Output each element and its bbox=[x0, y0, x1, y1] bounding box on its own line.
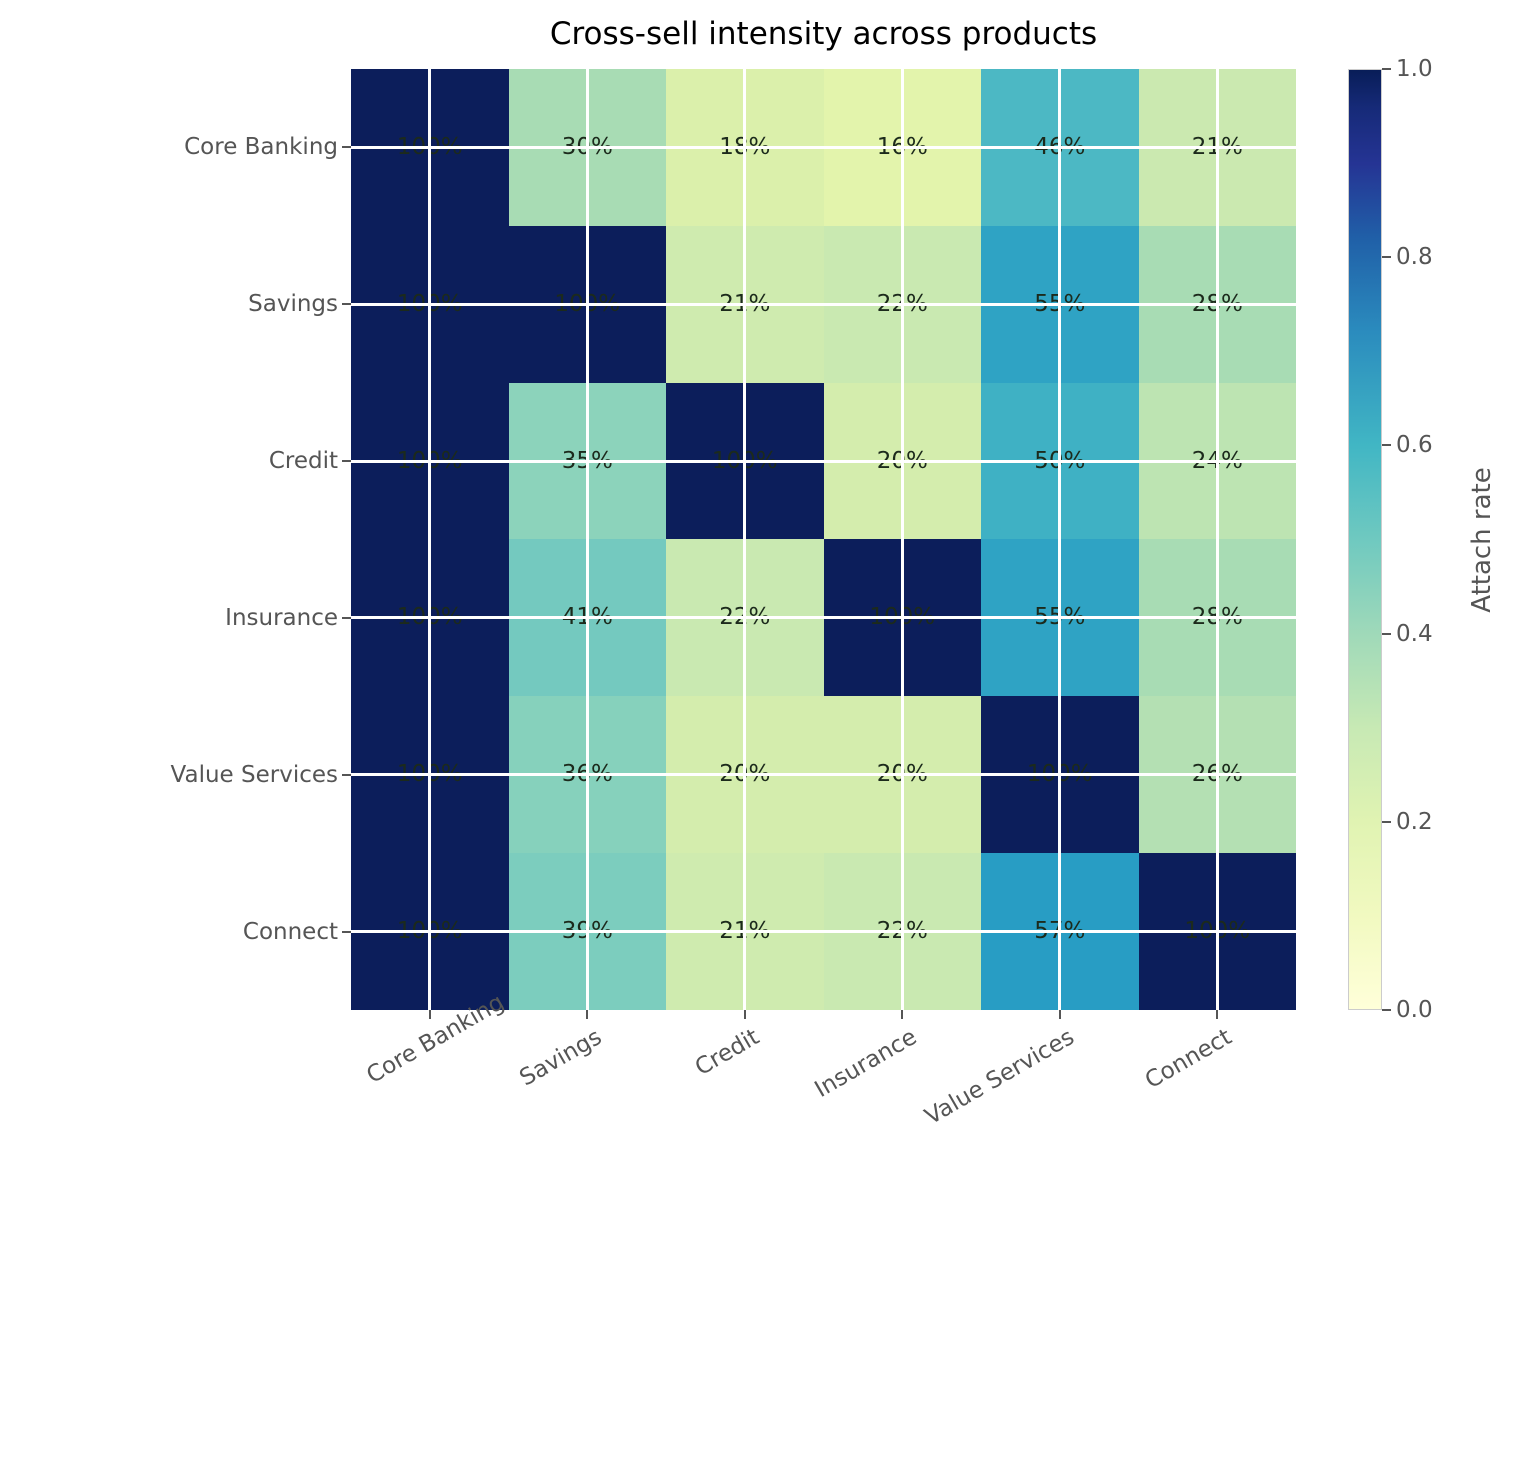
x-axis-tick-mark bbox=[1059, 1010, 1061, 1019]
heatmap-cell: 24% bbox=[1139, 383, 1297, 540]
colorbar-tick-label: 0.6 bbox=[1396, 432, 1433, 458]
heatmap-cell: 20% bbox=[824, 383, 982, 540]
colorbar-tick-label: 0.4 bbox=[1396, 621, 1433, 647]
heatmap-cell-value: 100% bbox=[397, 293, 463, 316]
heatmap-cell: 100% bbox=[351, 383, 509, 540]
heatmap-cell: 100% bbox=[351, 539, 509, 696]
heatmap-cell: 100% bbox=[351, 226, 509, 383]
heatmap-cell: 100% bbox=[351, 69, 509, 226]
colorbar-tick-mark bbox=[1382, 444, 1391, 446]
heatmap-cell: 55% bbox=[981, 226, 1139, 383]
colorbar-label-text: Attach rate bbox=[1467, 467, 1497, 613]
heatmap-plot-area: 100%30%18%16%46%21%100%100%21%22%55%28%1… bbox=[351, 69, 1296, 1010]
x-axis-tick-mark bbox=[429, 1010, 431, 1019]
heatmap-cell-value: 39% bbox=[562, 920, 613, 943]
x-axis-tick-mark bbox=[1216, 1010, 1218, 1019]
colorbar[interactable]: 0.00.20.40.60.81.0 bbox=[1348, 69, 1382, 1010]
heatmap-cell-value: 57% bbox=[1034, 920, 1085, 943]
colorbar-tick-mark bbox=[1382, 1009, 1391, 1011]
x-axis-tick-label: Connect bbox=[468, 1024, 1236, 1483]
heatmap-cell-value: 100% bbox=[397, 606, 463, 629]
colorbar-tick-mark bbox=[1382, 68, 1391, 70]
y-axis-tick-label: Credit bbox=[269, 448, 342, 474]
heatmap-cell: 18% bbox=[666, 69, 824, 226]
colorbar-tick-mark bbox=[1382, 821, 1391, 823]
heatmap-cell-value: 20% bbox=[877, 450, 928, 473]
colorbar-tick-mark bbox=[1382, 633, 1391, 635]
heatmap-cell-value: 50% bbox=[1034, 450, 1085, 473]
heatmap-cell: 100% bbox=[666, 383, 824, 540]
heatmap-cell-value: 21% bbox=[719, 920, 770, 943]
y-axis-tick-mark bbox=[342, 460, 351, 462]
heatmap-cell: 21% bbox=[666, 853, 824, 1010]
heatmap-cell-value: 36% bbox=[562, 763, 613, 786]
heatmap-cell: 21% bbox=[1139, 69, 1297, 226]
y-axis-tick-mark bbox=[342, 931, 351, 933]
heatmap-cell: 30% bbox=[509, 69, 667, 226]
heatmap-cell-value: 26% bbox=[1192, 763, 1243, 786]
y-axis-tick-label: Value Services bbox=[171, 762, 342, 788]
x-axis-tick-mark bbox=[586, 1010, 588, 1019]
heatmap-cell-value: 41% bbox=[562, 606, 613, 629]
y-axis-tick-mark bbox=[342, 774, 351, 776]
heatmap-cell-value: 22% bbox=[719, 606, 770, 629]
heatmap-cell-value: 22% bbox=[877, 920, 928, 943]
colorbar-tick-label: 0.0 bbox=[1396, 997, 1433, 1023]
heatmap-cell: 22% bbox=[824, 226, 982, 383]
heatmap-cell-value: 46% bbox=[1034, 136, 1085, 159]
heatmap-cell: 39% bbox=[509, 853, 667, 1010]
x-axis-tick-mark bbox=[901, 1010, 903, 1019]
x-axis-tick-mark bbox=[744, 1010, 746, 1019]
heatmap-cell: 35% bbox=[509, 383, 667, 540]
heatmap-cell: 41% bbox=[509, 539, 667, 696]
heatmap-cell-value: 22% bbox=[877, 293, 928, 316]
page-title: Cross-sell intensity across products bbox=[351, 16, 1296, 52]
heatmap-cell-value: 100% bbox=[397, 136, 463, 159]
y-axis-tick-label: Savings bbox=[248, 291, 342, 317]
y-axis-tick-mark bbox=[342, 146, 351, 148]
colorbar-tick-label: 0.2 bbox=[1396, 809, 1433, 835]
heatmap-grid: 100%30%18%16%46%21%100%100%21%22%55%28%1… bbox=[351, 69, 1296, 1010]
heatmap-cell: 100% bbox=[824, 539, 982, 696]
heatmap-cell: 46% bbox=[981, 69, 1139, 226]
heatmap-cell: 16% bbox=[824, 69, 982, 226]
y-axis: Core BankingSavingsCreditInsuranceValue … bbox=[0, 69, 351, 1010]
colorbar-tick-mark bbox=[1382, 256, 1391, 258]
heatmap-cell-value: 21% bbox=[719, 293, 770, 316]
y-axis-tick-mark bbox=[342, 617, 351, 619]
heatmap-cell-value: 100% bbox=[554, 293, 620, 316]
heatmap-cell: 100% bbox=[351, 696, 509, 853]
heatmap-cell: 55% bbox=[981, 539, 1139, 696]
heatmap-cell: 20% bbox=[666, 696, 824, 853]
heatmap-cell-value: 16% bbox=[877, 136, 928, 159]
heatmap-cell-value: 28% bbox=[1192, 293, 1243, 316]
heatmap-cell: 50% bbox=[981, 383, 1139, 540]
heatmap-cell-value: 100% bbox=[397, 763, 463, 786]
heatmap-figure: Cross-sell intensity across products 100… bbox=[0, 0, 1530, 1170]
heatmap-cell-value: 18% bbox=[719, 136, 770, 159]
heatmap-cell: 36% bbox=[509, 696, 667, 853]
heatmap-cell-value: 100% bbox=[397, 920, 463, 943]
heatmap-cell: 28% bbox=[1139, 539, 1297, 696]
heatmap-cell: 26% bbox=[1139, 696, 1297, 853]
heatmap-cell: 57% bbox=[981, 853, 1139, 1010]
y-axis-tick-label: Core Banking bbox=[184, 134, 342, 160]
heatmap-cell-value: 55% bbox=[1034, 606, 1085, 629]
heatmap-cell: 100% bbox=[1139, 853, 1297, 1010]
heatmap-cell-value: 21% bbox=[1192, 136, 1243, 159]
colorbar-gradient bbox=[1348, 69, 1382, 1010]
heatmap-cell-value: 100% bbox=[712, 450, 778, 473]
heatmap-cell: 22% bbox=[666, 539, 824, 696]
colorbar-tick-label: 0.8 bbox=[1396, 244, 1433, 270]
heatmap-cell-value: 100% bbox=[1184, 920, 1250, 943]
heatmap-cell: 100% bbox=[981, 696, 1139, 853]
heatmap-cell-value: 30% bbox=[562, 136, 613, 159]
colorbar-tick-label: 1.0 bbox=[1396, 56, 1433, 82]
x-axis: Core BankingSavingsCreditInsuranceValue … bbox=[351, 1010, 1296, 1170]
heatmap-cell-value: 100% bbox=[397, 450, 463, 473]
heatmap-cell: 100% bbox=[509, 226, 667, 383]
x-axis-tick-label: Core Banking bbox=[362, 1024, 448, 1089]
y-axis-tick-mark bbox=[342, 303, 351, 305]
y-axis-tick-label: Connect bbox=[243, 919, 342, 945]
heatmap-cell-value: 20% bbox=[877, 763, 928, 786]
heatmap-cell: 100% bbox=[351, 853, 509, 1010]
colorbar-axis-label: Attach rate bbox=[1462, 69, 1502, 1010]
heatmap-cell-value: 100% bbox=[1027, 763, 1093, 786]
heatmap-cell-value: 100% bbox=[869, 606, 935, 629]
heatmap-cell-value: 28% bbox=[1192, 606, 1243, 629]
heatmap-cell: 28% bbox=[1139, 226, 1297, 383]
heatmap-cell-value: 24% bbox=[1192, 450, 1243, 473]
heatmap-cell: 21% bbox=[666, 226, 824, 383]
heatmap-cell: 22% bbox=[824, 853, 982, 1010]
heatmap-cell-value: 55% bbox=[1034, 293, 1085, 316]
heatmap-cell-value: 20% bbox=[719, 763, 770, 786]
y-axis-tick-label: Insurance bbox=[225, 605, 342, 631]
heatmap-cell: 20% bbox=[824, 696, 982, 853]
heatmap-cell-value: 35% bbox=[562, 450, 613, 473]
